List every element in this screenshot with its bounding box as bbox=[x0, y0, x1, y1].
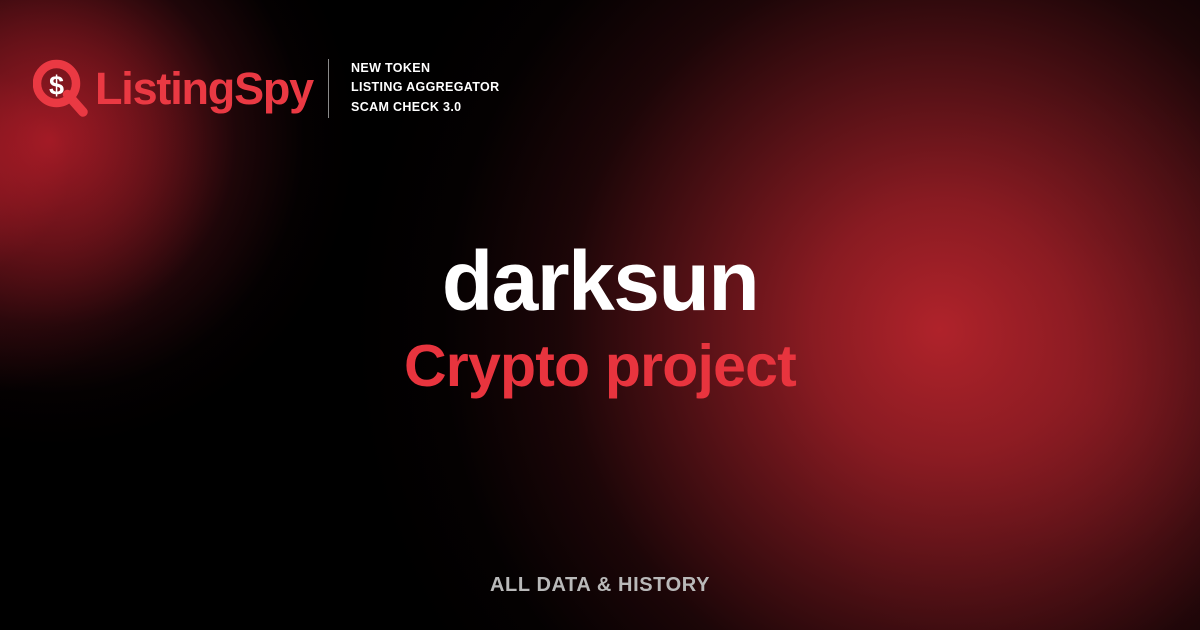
tagline-line-3: SCAM CHECK 3.0 bbox=[351, 98, 499, 117]
brand-divider bbox=[328, 59, 329, 118]
hero-block: darksun Crypto project bbox=[0, 238, 1200, 399]
og-card: $ ListingSpy NEW TOKEN LISTING AGGREGATO… bbox=[0, 0, 1200, 630]
brand-tagline: NEW TOKEN LISTING AGGREGATOR SCAM CHECK … bbox=[351, 59, 499, 116]
footer-caption: ALL DATA & HISTORY bbox=[490, 574, 710, 596]
brand-lockup[interactable]: $ ListingSpy NEW TOKEN LISTING AGGREGATO… bbox=[33, 55, 499, 121]
svg-text:$: $ bbox=[49, 71, 64, 101]
footer: ALL DATA & HISTORY bbox=[0, 574, 1200, 597]
page-title: darksun bbox=[0, 238, 1200, 325]
tagline-line-1: NEW TOKEN bbox=[351, 59, 499, 78]
brand-wordmark: ListingSpy bbox=[95, 66, 313, 111]
magnifier-dollar-icon: $ bbox=[33, 58, 91, 118]
page-subtitle: Crypto project bbox=[0, 333, 1200, 399]
tagline-line-2: LISTING AGGREGATOR bbox=[351, 78, 499, 97]
